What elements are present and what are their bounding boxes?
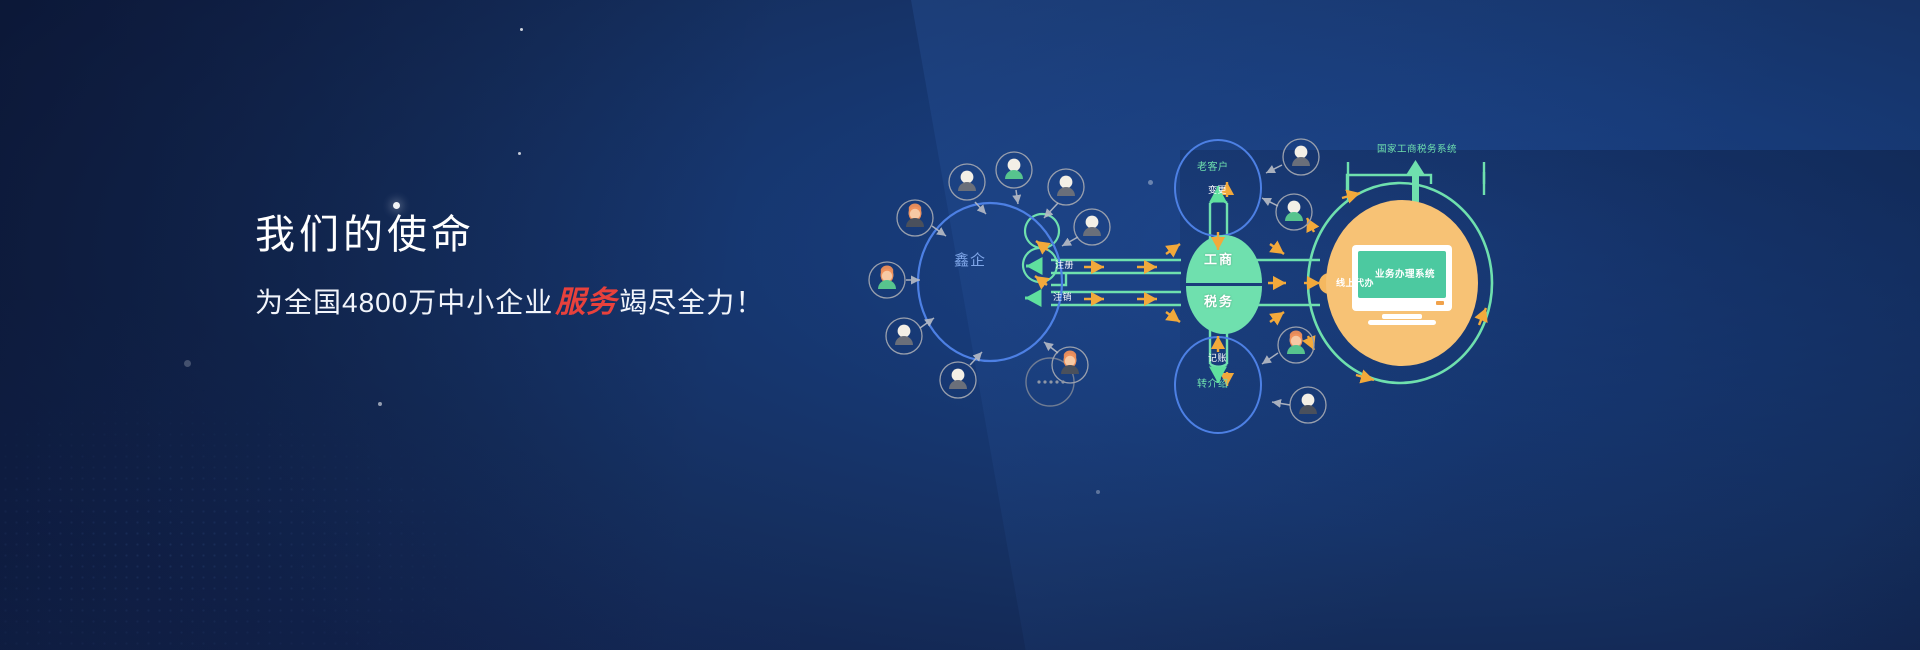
service-flow-diagram: 鑫企 注册 注销 工商 税务 老客户 变更 记账 转介绍 线上代办 业务办理系统… (890, 140, 1570, 520)
hero-subtitle: 为全国4800万中小企业服务竭尽全力！ (255, 288, 764, 318)
avatar (949, 164, 985, 200)
national-system-arrow-icon (1406, 160, 1425, 202)
avatar (1290, 387, 1326, 423)
avatar (1276, 194, 1312, 230)
hero-copy: 我们的使命 为全国4800万中小企业服务竭尽全力！ (255, 215, 764, 318)
avatar-connectors (906, 165, 1290, 405)
particle-dot (184, 360, 191, 367)
background-facet-c (1530, 380, 1920, 650)
avatar (996, 152, 1032, 188)
business-system-node (1326, 200, 1478, 366)
hero-banner: 我们的使命 为全国4800万中小企业服务竭尽全力！ (0, 0, 1920, 650)
avatar (1283, 139, 1319, 175)
diagram-svg (890, 140, 1570, 520)
page-title: 我们的使命 (255, 215, 764, 255)
subtitle-prefix: 为全国4800万中小企业 (255, 287, 553, 318)
background-dot-grid (0, 330, 760, 650)
avatar (1278, 327, 1314, 363)
particle-dot (378, 402, 382, 406)
avatar (869, 262, 905, 298)
core-node (1186, 235, 1262, 334)
background-facet-d (0, 300, 800, 650)
particle-dot (518, 152, 521, 155)
avatar (886, 318, 922, 354)
subtitle-accent: 服务 (553, 285, 619, 320)
subtitle-suffix: 竭尽全力！ (619, 287, 764, 318)
avatar (1048, 169, 1084, 205)
avatar-group-bottom-branch (1278, 327, 1326, 423)
avatar (940, 362, 976, 398)
particle-dot (520, 28, 523, 31)
particle-dot (393, 202, 400, 209)
avatar (897, 200, 933, 236)
avatar-group-top-branch (1276, 139, 1319, 230)
avatar (1074, 209, 1110, 245)
